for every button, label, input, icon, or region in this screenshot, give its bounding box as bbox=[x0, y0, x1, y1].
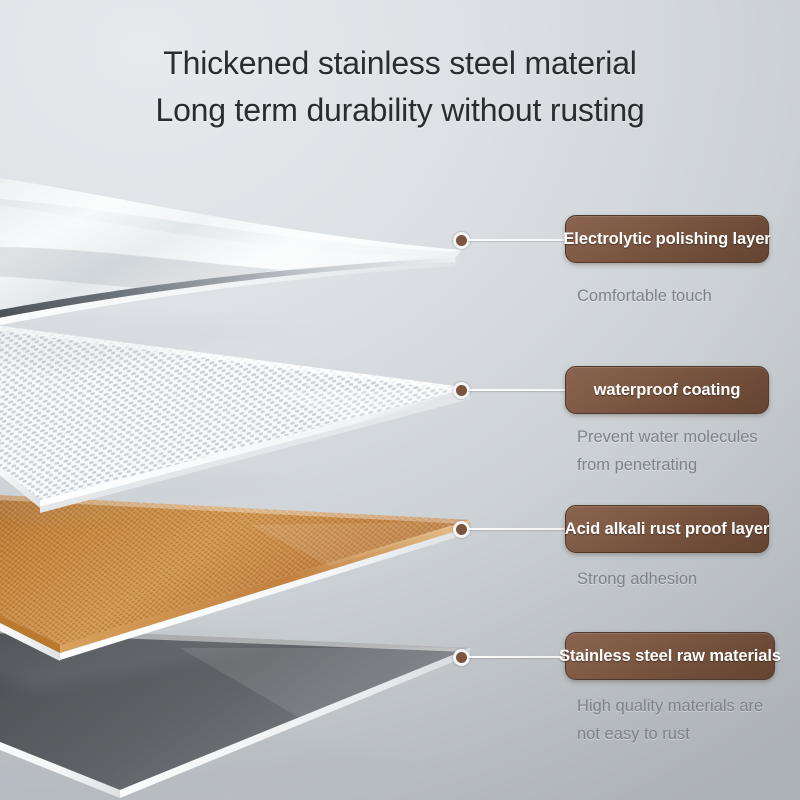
callout-label-electrolytic-polishing-layer[interactable]: Electrolytic polishing layer bbox=[565, 215, 769, 263]
callout-description-3: Strong adhesion bbox=[577, 564, 697, 594]
callout-description-4: High quality materials are bbox=[577, 691, 763, 721]
callout-label-stainless-steel-raw-materials[interactable]: Stainless steel raw materials bbox=[565, 632, 775, 680]
callout-label-acid-alkali-rust-proof-layer[interactable]: Acid alkali rust proof layer bbox=[565, 505, 769, 553]
product-layer-infographic: Thickened stainless steel material Long … bbox=[0, 0, 800, 800]
callout-leader-1 bbox=[468, 239, 568, 241]
callout-description-2: Prevent water molecules bbox=[577, 422, 758, 452]
layer-electrolytic-polishing bbox=[0, 170, 462, 372]
callout-leader-3 bbox=[468, 528, 568, 530]
callout-leader-4 bbox=[468, 656, 568, 658]
callout-leader-2 bbox=[468, 389, 568, 391]
callout-description-2-line-2: from penetrating bbox=[577, 450, 697, 480]
callout-description-1: Comfortable touch bbox=[577, 281, 712, 311]
callout-label-waterproof-coating[interactable]: waterproof coating bbox=[565, 366, 769, 414]
callout-description-4-line-2: not easy to rust bbox=[577, 719, 690, 749]
